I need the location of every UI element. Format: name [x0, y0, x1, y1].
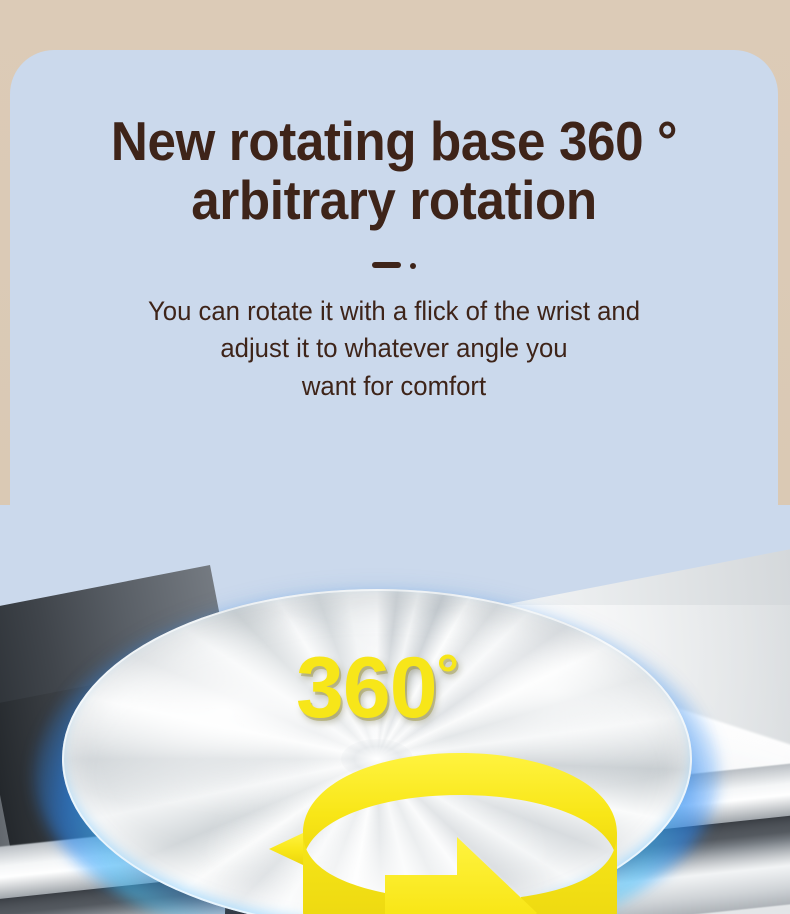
product-photo: 360° — [0, 505, 790, 914]
degree-badge: 360° — [62, 645, 692, 731]
subcopy-line-1: You can rotate it with a flick of the wr… — [64, 293, 724, 331]
rotating-disc: 360° — [62, 589, 692, 914]
divider-ornament — [372, 261, 416, 269]
subcopy-line-3: want for comfort — [64, 368, 724, 406]
product-feature-poster: New rotating base 360 ° arbitrary rotati… — [0, 0, 790, 914]
degree-badge-symbol: ° — [437, 642, 458, 705]
rotation-arrow-icon — [225, 715, 695, 914]
ornament-dot — [410, 263, 416, 269]
degree-badge-number: 360 — [296, 640, 437, 736]
hero-content: New rotating base 360 ° arbitrary rotati… — [10, 50, 778, 406]
hero-subcopy: You can rotate it with a flick of the wr… — [64, 293, 724, 406]
page-title: New rotating base 360 ° arbitrary rotati… — [37, 50, 751, 231]
ornament-dash — [372, 262, 401, 268]
subcopy-line-2: adjust it to whatever angle you — [64, 330, 724, 368]
headline-line-1: New rotating base 360 ° — [111, 110, 677, 172]
headline-line-2: arbitrary rotation — [37, 171, 751, 230]
